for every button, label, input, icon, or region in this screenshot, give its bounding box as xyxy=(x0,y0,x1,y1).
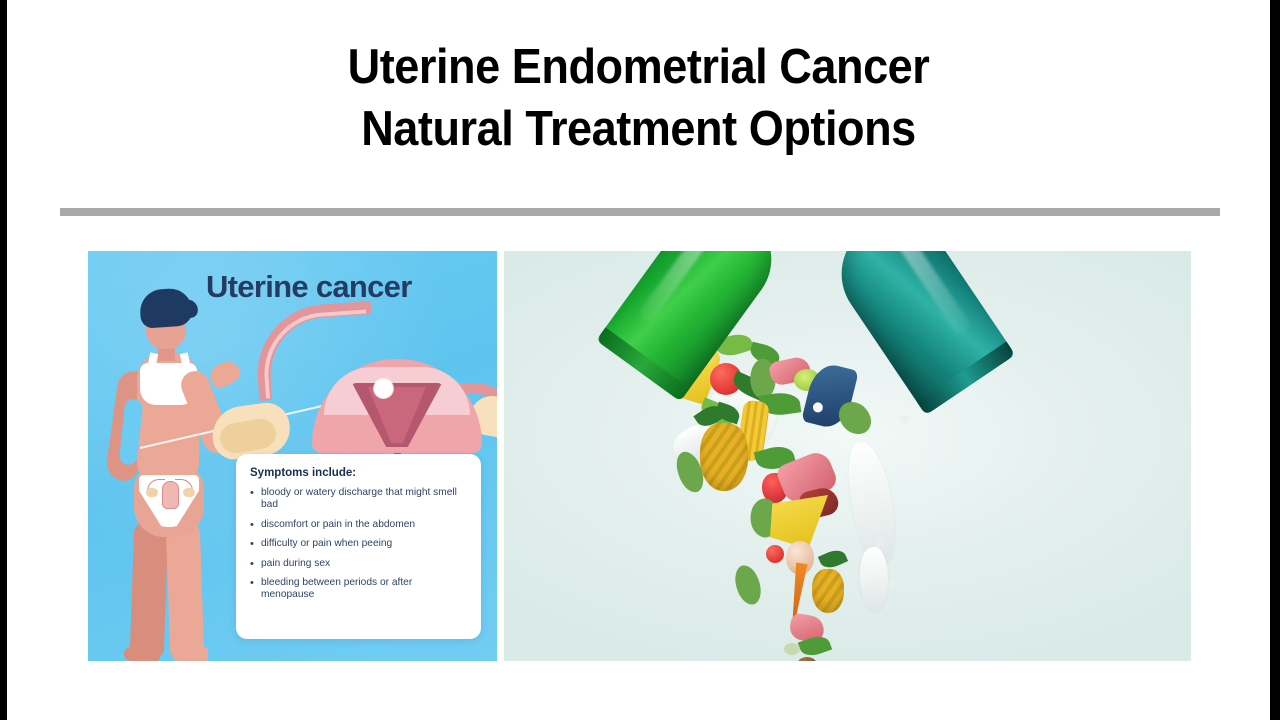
small-ovary-left xyxy=(146,488,158,497)
title-line-2: Natural Treatment Options xyxy=(58,98,1220,160)
droplet xyxy=(630,451,637,458)
tumor-marker-dot xyxy=(374,379,393,398)
droplet xyxy=(888,581,895,588)
hair-shape xyxy=(139,287,194,329)
slide-canvas: Uterine Endometrial Cancer Natural Treat… xyxy=(7,0,1270,720)
droplet xyxy=(874,537,884,547)
list-item: difficulty or pain when peeing xyxy=(250,538,467,550)
right-hand-shape xyxy=(207,357,244,391)
title-line-1: Uterine Endometrial Cancer xyxy=(58,36,1220,98)
left-leg-shape xyxy=(130,522,169,657)
right-leg-shape xyxy=(166,522,205,657)
small-uterus-body xyxy=(162,481,179,509)
healthy-food-capsule-image xyxy=(504,251,1191,661)
symptoms-list: bloody or watery discharge that might sm… xyxy=(250,487,467,602)
pineapple-small xyxy=(812,569,844,613)
title-divider-bar xyxy=(60,208,1220,216)
droplet xyxy=(664,467,670,473)
cherry-tomato xyxy=(766,545,784,563)
droplet xyxy=(900,415,908,423)
list-item: bloody or watery discharge that might sm… xyxy=(250,487,467,512)
small-uterus-overlay xyxy=(146,475,194,515)
fish-eye xyxy=(812,401,824,413)
green-bean xyxy=(784,643,800,655)
right-foot-shape xyxy=(172,647,208,661)
list-item: pain during sex xyxy=(250,558,467,570)
small-ovary-right xyxy=(183,488,195,497)
uterine-cancer-infographic-image: Uterine cancer xyxy=(88,251,497,661)
page-title: Uterine Endometrial Cancer Natural Treat… xyxy=(7,36,1270,160)
list-item: bleeding between periods or after menopa… xyxy=(250,577,467,602)
left-foot-shape xyxy=(124,647,160,661)
symptoms-card-title: Symptoms include: xyxy=(250,467,467,479)
symptoms-card: Symptoms include: bloody or watery disch… xyxy=(236,454,481,639)
list-item: discomfort or pain in the abdomen xyxy=(250,519,467,531)
pineapple xyxy=(700,423,748,491)
photo-background xyxy=(504,251,1191,661)
droplet xyxy=(610,407,615,412)
droplet xyxy=(644,419,653,428)
